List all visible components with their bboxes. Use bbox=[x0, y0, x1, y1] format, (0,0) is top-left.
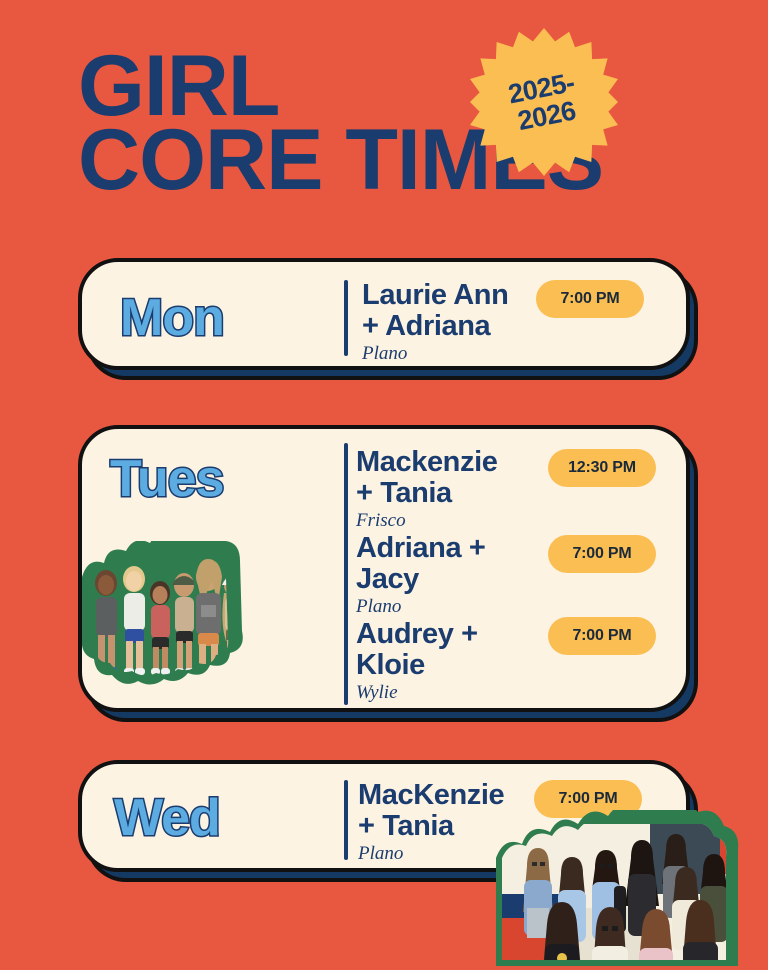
card-divider bbox=[344, 280, 348, 356]
year-badge: 2025- 2026 bbox=[470, 28, 618, 176]
card-surface: Mon Laurie Ann + Adriana Plano 7:00 PM bbox=[78, 258, 690, 370]
time-badge[interactable]: 7:00 PM bbox=[548, 535, 656, 573]
schedule-entry: Audrey + Kloie Wylie bbox=[356, 619, 478, 704]
entry-names: Laurie Ann + Adriana bbox=[362, 280, 508, 341]
year-badge-text: 2025- 2026 bbox=[457, 15, 631, 189]
card-divider bbox=[344, 443, 348, 705]
day-label-wed: Wed bbox=[114, 788, 220, 848]
day-label-tues: Tues bbox=[110, 449, 224, 509]
entry-location: Plano bbox=[356, 596, 485, 618]
photo-figures bbox=[82, 555, 262, 695]
entry-location: Plano bbox=[362, 343, 508, 365]
schedule-entry: MacKenzie + Tania Plano bbox=[358, 780, 504, 865]
time-badge[interactable]: 7:00 PM bbox=[548, 617, 656, 655]
entry-location: Plano bbox=[358, 843, 504, 865]
time-badge[interactable]: 7:00 PM bbox=[536, 280, 644, 318]
entry-names: Mackenzie + Tania bbox=[356, 447, 497, 508]
entry-names: MacKenzie + Tania bbox=[358, 780, 504, 841]
schedule-entry: Mackenzie + Tania Frisco bbox=[356, 447, 497, 532]
entry-location: Frisco bbox=[356, 510, 497, 532]
time-badge[interactable]: 12:30 PM bbox=[548, 449, 656, 487]
photo-figures bbox=[500, 824, 768, 970]
card-surface: Tues Mackenzie + Tania Frisco Adriana + … bbox=[78, 425, 690, 712]
poster-header: GIRL CORE TIMES 2025- 2026 bbox=[0, 0, 768, 250]
schedule-card-tues[interactable]: Tues Mackenzie + Tania Frisco Adriana + … bbox=[78, 425, 690, 712]
entry-names: Audrey + Kloie bbox=[356, 619, 478, 680]
card-divider bbox=[344, 780, 348, 860]
day-label-mon: Mon bbox=[120, 288, 224, 348]
schedule-card-mon[interactable]: Mon Laurie Ann + Adriana Plano 7:00 PM bbox=[78, 258, 690, 370]
bottom-group-photo bbox=[492, 810, 768, 970]
entry-location: Wylie bbox=[356, 682, 478, 704]
schedule-entry: Adriana + Jacy Plano bbox=[356, 533, 485, 618]
tuesday-group-photo bbox=[78, 541, 268, 701]
schedule-entry: Laurie Ann + Adriana Plano bbox=[362, 280, 508, 365]
entry-names: Adriana + Jacy bbox=[356, 533, 485, 594]
